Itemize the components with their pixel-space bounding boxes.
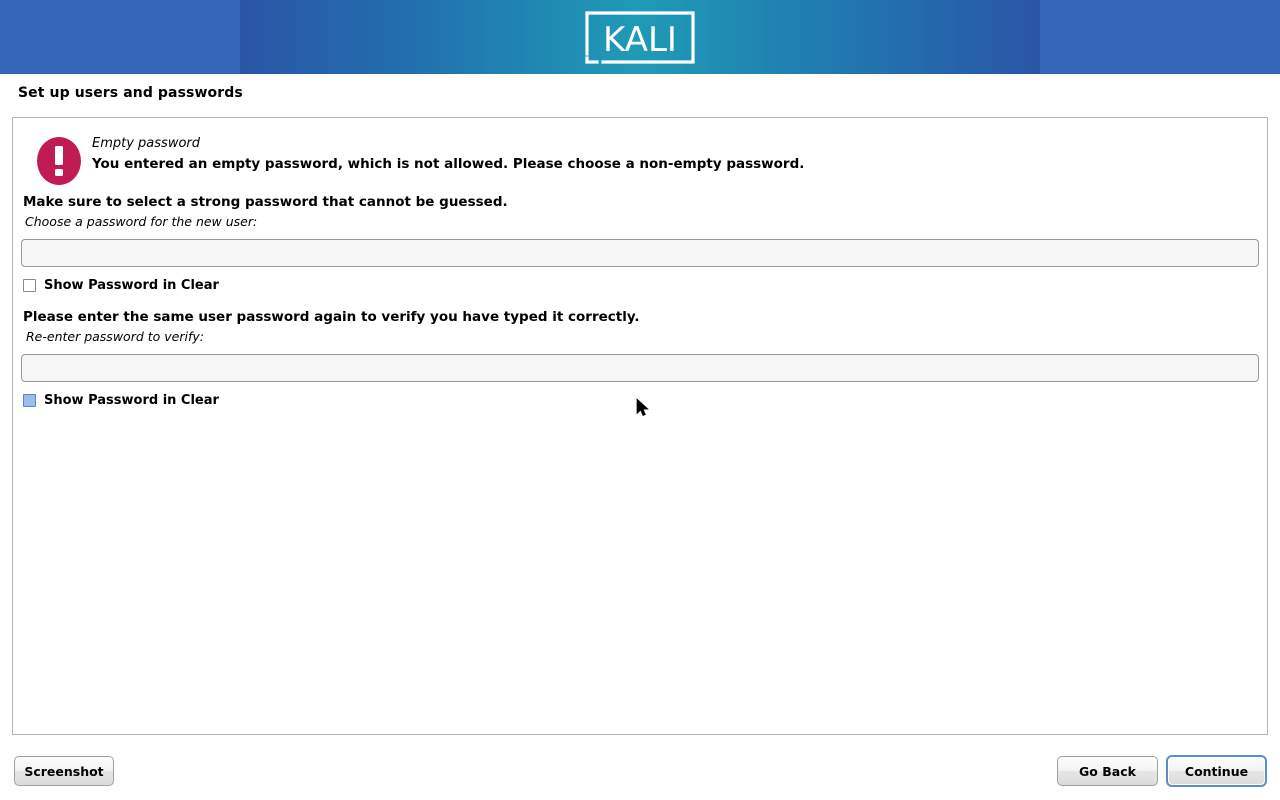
content-panel: Empty password You entered an empty pass…: [12, 117, 1268, 735]
svg-text:KALI: KALI: [603, 20, 677, 60]
password-section-heading: Make sure to select a strong password th…: [23, 194, 508, 210]
screenshot-button[interactable]: Screenshot: [14, 756, 114, 786]
continue-button[interactable]: Continue: [1166, 755, 1267, 787]
error-title: Empty password: [92, 136, 200, 151]
show-password-clear-checkbox-1[interactable]: Show Password in Clear: [23, 276, 219, 294]
verify-field-label: Re-enter password to verify:: [26, 329, 204, 344]
kali-banner: KALI: [0, 0, 1280, 74]
checkbox-label: Show Password in Clear: [44, 394, 219, 407]
show-password-clear-checkbox-2[interactable]: Show Password in Clear: [23, 391, 219, 409]
kali-logo: KALI: [583, 8, 697, 67]
password-input[interactable]: [21, 239, 1259, 267]
installer-window: KALI Set up users and passwords Empty pa…: [0, 0, 1280, 800]
page-title: Set up users and passwords: [18, 85, 243, 101]
checkbox-box[interactable]: [23, 279, 36, 292]
verify-password-input[interactable]: [21, 354, 1259, 382]
error-message: You entered an empty password, which is …: [92, 156, 804, 172]
go-back-button[interactable]: Go Back: [1057, 756, 1158, 786]
checkbox-box[interactable]: [23, 394, 36, 407]
checkbox-label: Show Password in Clear: [44, 279, 219, 292]
error-exclamation-icon: [34, 136, 84, 186]
verify-section-heading: Please enter the same user password agai…: [23, 309, 640, 325]
password-field-label: Choose a password for the new user:: [25, 214, 257, 229]
